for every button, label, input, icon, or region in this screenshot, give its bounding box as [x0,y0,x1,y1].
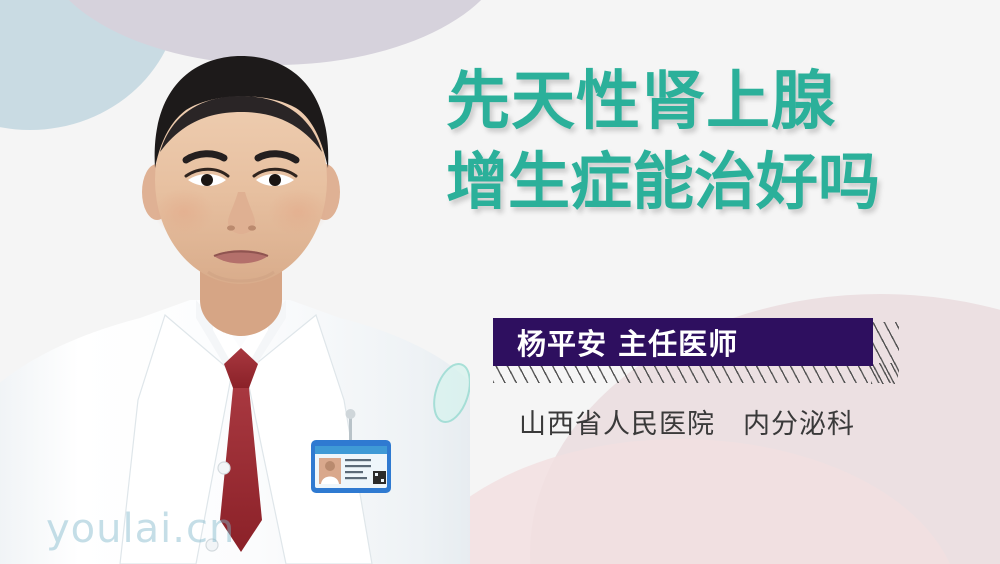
badge-qr-marker-2 [381,479,384,482]
badge-clip-strap [349,415,352,443]
presenter-name-bar: 杨平安 主任医师 [493,318,873,366]
decor-circle-bottom-right-b [400,439,960,564]
badge-clip [346,409,356,419]
headline-line-2: 增生症能治好吗 [446,142,986,222]
badge-line-3 [345,471,363,473]
doctor-portrait [0,0,470,564]
badge-line-2 [345,465,371,467]
badge-line-1 [345,459,371,461]
nostril-left [227,225,235,230]
headline-line-1: 先天性肾上腺 [446,62,986,142]
thumbnail-canvas: 先天性肾上腺 增生症能治好吗 杨平安 主任医师 山西省人民医院 内分泌科 you… [0,0,1000,564]
badge-qr-marker [375,473,378,476]
badge-line-4 [345,477,367,479]
cheek-right [268,188,328,236]
presenter-affiliation: 山西省人民医院 内分泌科 [519,402,855,441]
cheek-left [154,188,214,236]
badge-qr-code [373,471,386,484]
badge-photo-head [325,461,335,471]
hatch-decoration-bottom [493,363,898,383]
badge-card-header [315,446,387,454]
pupil-right [269,174,281,186]
pupil-left [201,174,213,186]
nostril-right [248,225,256,230]
watermark-youlai: youlai.cn [46,506,235,552]
headline: 先天性肾上腺 增生症能治好吗 [446,62,986,222]
hatch-decoration-right [871,322,899,384]
coat-button-1 [218,462,230,474]
presenter-name-title: 杨平安 主任医师 [517,321,738,363]
